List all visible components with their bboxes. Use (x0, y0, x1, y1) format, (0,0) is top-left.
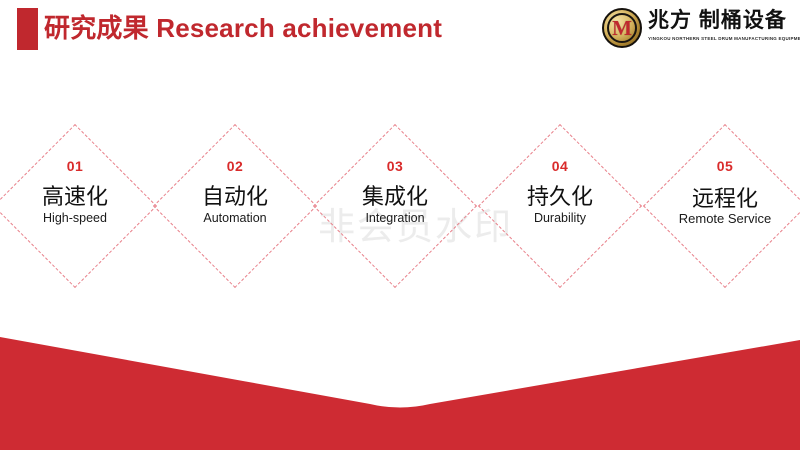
diamond-item-5[interactable]: 05 远程化 Remote Service (649, 130, 800, 282)
diamond-item-1[interactable]: 01 高速化 High-speed (0, 130, 151, 282)
diamond-number: 05 (717, 158, 734, 174)
company-logo: M 兆方 制桶设备 YINGKOU NORTHERN STEEL DRUM MA… (600, 5, 796, 51)
diamond-content: 01 高速化 High-speed (0, 130, 151, 282)
diamond-number: 03 (387, 158, 404, 174)
diamond-number: 01 (67, 158, 84, 174)
diamond-number: 04 (552, 158, 569, 174)
diamond-title-en: Automation (203, 211, 266, 226)
logo-emblem-icon: M (602, 8, 642, 48)
diamond-content: 04 持久化 Durability (484, 130, 636, 282)
diamond-content: 03 集成化 Integration (319, 130, 471, 282)
diamond-content: 02 自动化 Automation (159, 130, 311, 282)
diamond-content: 05 远程化 Remote Service (649, 130, 800, 282)
logo-company-name-cn: 兆方 制桶设备 (648, 9, 787, 33)
diamond-title-cn: 远程化 (692, 186, 758, 212)
bottom-chevron-decoration (0, 320, 800, 450)
logo-company-name-en: YINGKOU NORTHERN STEEL DRUM MANUFACTURIN… (648, 36, 800, 41)
diamond-item-2[interactable]: 02 自动化 Automation (159, 130, 311, 282)
diamond-title-cn: 持久化 (527, 184, 593, 210)
diamond-title-en: Integration (365, 211, 424, 226)
diamond-title-en: High-speed (43, 211, 107, 226)
logo-monogram: M (612, 18, 632, 39)
diamond-title-cn: 高速化 (42, 184, 108, 210)
diamond-title-cn: 自动化 (202, 184, 268, 210)
diamond-list: 01 高速化 High-speed 02 自动化 Automation 03 集… (0, 128, 800, 288)
title-accent-bar (17, 8, 38, 50)
chevron-shape (0, 337, 800, 450)
slide-canvas: 研究成果 Research achievement M 兆方 制桶设备 YING… (0, 0, 800, 450)
page-title: 研究成果 Research achievement (44, 11, 442, 45)
diamond-title-en: Durability (534, 211, 586, 226)
diamond-number: 02 (227, 158, 244, 174)
diamond-item-3[interactable]: 03 集成化 Integration (319, 130, 471, 282)
diamond-title-cn: 集成化 (362, 184, 428, 210)
diamond-title-en: Remote Service (679, 211, 771, 226)
diamond-item-4[interactable]: 04 持久化 Durability (484, 130, 636, 282)
